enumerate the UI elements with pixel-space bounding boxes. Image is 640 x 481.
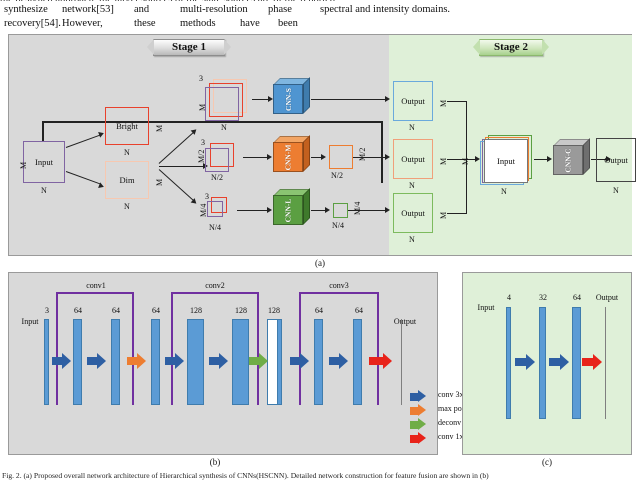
scale-m-stack — [205, 143, 239, 177]
output-s-label: Output — [401, 96, 425, 106]
group-conv2-label: conv2 — [185, 281, 245, 290]
panelb-bar-5 — [232, 319, 249, 405]
panelb-bar-6b — [277, 319, 282, 405]
stage2-label: Stage 2 — [479, 39, 543, 56]
panelc-bar-1 — [539, 307, 546, 419]
scale-l-dim-bottom: N/4 — [209, 223, 221, 232]
dim-dim-bottom: N — [124, 202, 130, 211]
subcaption-a: (a) — [0, 258, 640, 268]
scale-s-stack — [205, 79, 249, 123]
arrowhead-to-cnn-l — [267, 207, 272, 213]
text-col7-line1: spectral and intensity domains. — [320, 4, 450, 15]
arrow-to-cnn-l — [237, 210, 269, 211]
panelb-bar-3 — [151, 319, 160, 405]
fusion-input-box: Input — [484, 139, 528, 183]
panelb-channel-2: 64 — [105, 306, 127, 315]
output-m-dim-bottom: N — [409, 181, 415, 190]
figure-panel-c: Input Output 4 32 64 — [462, 272, 632, 455]
output-s-box: Output — [393, 81, 433, 121]
skip-line-vertical-left — [42, 121, 44, 141]
panelb-bar-0 — [44, 319, 49, 405]
bright-box: Bright — [105, 107, 149, 145]
output-l-label: Output — [401, 208, 425, 218]
paper-text-block: the designed approach, the target source… — [0, 0, 640, 30]
arrowhead-l-to-output — [385, 207, 390, 213]
cnn-s-label: CNN-S — [283, 88, 292, 111]
scale-m-small-dim-bottom: N/2 — [331, 171, 343, 180]
scale-l-small-box — [333, 203, 348, 218]
output-m-box: Output — [393, 139, 433, 179]
panelc-output-label: Output — [585, 293, 629, 302]
arrow-fan-scale-s — [159, 131, 195, 164]
panelb-channel-5: 128 — [228, 306, 254, 315]
output-s-dim-bottom: N — [409, 123, 415, 132]
panelc-channel-0: 4 — [501, 293, 517, 302]
output-m-label: Output — [401, 154, 425, 164]
panelb-channel-7: 64 — [308, 306, 330, 315]
panelb-bar-2 — [111, 319, 120, 405]
line-m-to-output — [353, 157, 387, 158]
cnn-c-cube: CNN-C — [553, 139, 591, 177]
bus-line-s — [447, 101, 467, 102]
arrowhead-input-to-dim — [98, 182, 105, 189]
arrow-input-to-dim — [66, 171, 100, 184]
panelb-input-label: Input — [13, 317, 47, 326]
text-col3-line1: and — [134, 4, 149, 15]
scale-s-depth: 3 — [199, 74, 203, 83]
panelb-channel-1: 64 — [67, 306, 89, 315]
cnn-l-label: CNN-L — [284, 198, 293, 222]
subcaption-c: (c) — [462, 457, 632, 467]
panelb-bar-8 — [353, 319, 362, 405]
input-box-label: Input — [35, 157, 53, 167]
panelb-channel-0: 3 — [39, 306, 55, 315]
arrowhead-cnn-l-to-small — [325, 207, 330, 213]
cnn-c-label: CNN-C — [563, 148, 572, 172]
fusion-in-dim-left: M — [461, 158, 470, 165]
bus-line-l — [447, 213, 467, 214]
scale-l-stack — [207, 197, 233, 223]
text-col4-line1: multi-resolution — [180, 4, 248, 15]
arrow-input-to-bright — [66, 135, 100, 148]
text-col4-line2: methods — [180, 18, 216, 29]
arrow-fan-scale-l — [159, 169, 195, 202]
cnn-m-label: CNN-M — [283, 144, 292, 170]
text-col6-line2: been — [278, 18, 298, 29]
arrowhead-cnnc-to-output — [606, 156, 611, 162]
scale-l-small-dim-left: M/4 — [353, 202, 362, 215]
text-col5-line1: phase — [268, 4, 292, 15]
scale-m-small-box — [329, 145, 353, 169]
text-col2-line1: network[53] — [62, 4, 114, 15]
dim-box-label: Dim — [119, 175, 134, 185]
panelb-output-label: Output — [383, 317, 427, 326]
panelb-bar-4 — [187, 319, 204, 405]
panelc-channel-2: 64 — [566, 293, 588, 302]
text-col2-line2: However, — [62, 18, 103, 29]
panelb-bar-1 — [73, 319, 82, 405]
figure-panel-b: conv1 conv2 conv3 Input Output 3 64 64 6… — [8, 272, 438, 455]
panelb-output-line — [401, 319, 402, 405]
panelc-bar-0 — [506, 307, 511, 419]
arrowhead-cnn-m-to-small — [321, 154, 326, 160]
arrowhead-input-to-bright — [98, 130, 105, 137]
line-l-to-output — [348, 210, 387, 211]
arrow-fan-scale-m — [159, 166, 205, 167]
cnn-m-cube: CNN-M — [273, 136, 311, 174]
panelb-channel-4: 128 — [183, 306, 209, 315]
output-l-dim-bottom: N — [409, 235, 415, 244]
panelb-channel-3: 64 — [145, 306, 167, 315]
text-col3-line2: these — [134, 18, 156, 29]
input-dim-bottom: N — [41, 186, 47, 195]
bright-box-label: Bright — [116, 121, 138, 131]
group-conv1-label: conv1 — [66, 281, 126, 290]
bright-dim-left: M — [155, 125, 164, 132]
fusion-input-label: Input — [497, 156, 515, 166]
panelb-channel-6: 128 — [261, 306, 287, 315]
input-dim-left: M — [19, 162, 28, 169]
scale-m-dim-left: M/2 — [197, 150, 206, 163]
scale-s-dim-bottom: N — [221, 123, 227, 132]
panelc-channel-1: 32 — [532, 293, 554, 302]
fusion-input-dim-bottom: N — [501, 187, 507, 196]
group-conv3-label: conv3 — [309, 281, 369, 290]
stage1-label: Stage 1 — [153, 39, 225, 56]
arrowhead-fusion-to-cnnc — [547, 156, 552, 162]
panelc-output-line — [605, 307, 606, 419]
scale-m-dim-bottom: N/2 — [211, 173, 223, 182]
output-l-box: Output — [393, 193, 433, 233]
dim-box: Dim — [105, 161, 149, 199]
figure-caption: Fig. 2. (a) Proposed overall network arc… — [2, 471, 640, 481]
panelc-input-label: Input — [469, 303, 503, 312]
text-col5-line2: have — [240, 18, 260, 29]
bright-dim-bottom: N — [124, 148, 130, 157]
scale-s-dim-left: M — [198, 104, 207, 111]
text-col1-line1: synthesize — [4, 4, 48, 15]
scale-l-small-dim-bottom: N/4 — [332, 221, 344, 230]
arrow-to-cnn-m — [243, 157, 269, 158]
line-cnn-s-to-output — [311, 99, 387, 100]
dim-dim-left: M — [155, 179, 164, 186]
skip-line-vertical-right — [381, 121, 383, 183]
arrowhead-fan-scale-l — [191, 198, 199, 206]
input-box: Input — [23, 141, 65, 183]
arrowhead-m-to-output — [385, 154, 390, 160]
panelc-bar-2 — [572, 307, 581, 419]
text-col1-line2: recovery[54]. — [4, 18, 61, 29]
arrowhead-cnn-s-to-output — [385, 96, 390, 102]
cnn-s-cube: CNN-S — [273, 78, 311, 116]
clipped-text-line: the designed approach, the target source… — [0, 0, 640, 1]
arrowhead-to-cnn-m — [267, 154, 272, 160]
scale-m-small-dim-left: M/2 — [358, 148, 367, 161]
cnn-l-cube: CNN-L — [273, 189, 311, 227]
figure-panel-a: Stage 1 Stage 2 Input M N Bright M N Dim… — [8, 34, 632, 256]
panelb-bar-7 — [314, 319, 323, 405]
panelb-channel-8: 64 — [348, 306, 370, 315]
subcaption-b: (b) — [0, 457, 430, 467]
scale-l-dim-left: M/4 — [199, 204, 208, 217]
